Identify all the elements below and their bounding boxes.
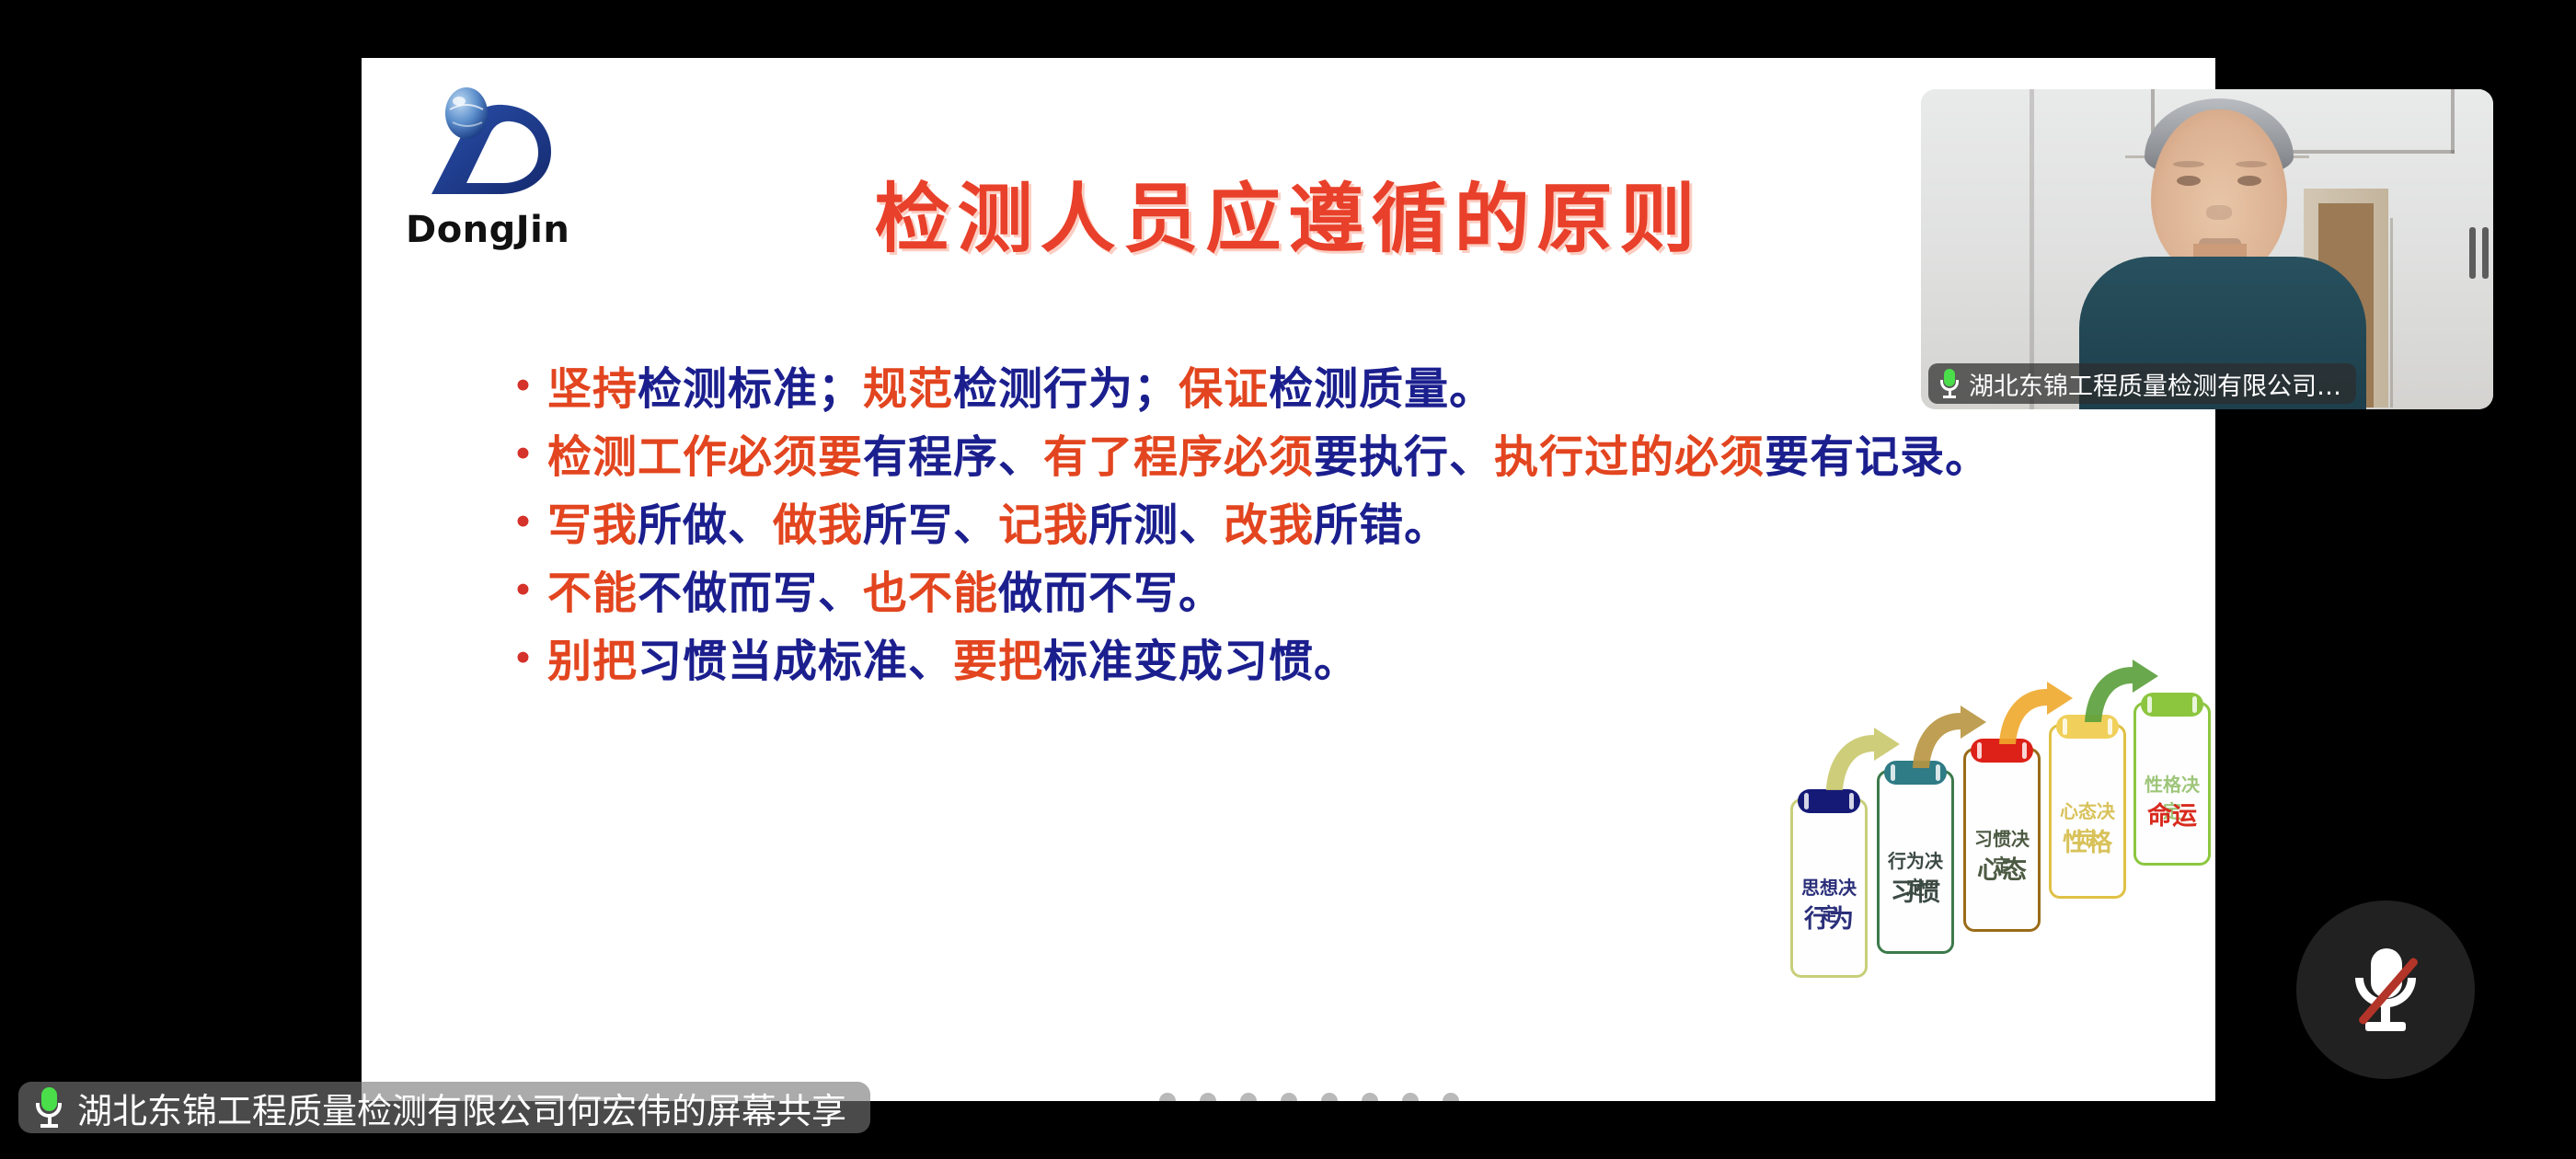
bullet-text: 坚持检测标准；规范检测行为；保证检测质量。: [547, 361, 1494, 417]
bullet-segment: 习惯当成标准、: [638, 636, 953, 687]
eye: [2177, 176, 2201, 186]
bullet-marker: •: [500, 361, 547, 411]
bullet-segment: 不做而写、: [638, 568, 863, 619]
bullet-segment: 所错。: [1314, 499, 1449, 551]
room-detail: [2390, 218, 2393, 407]
nose: [2206, 205, 2232, 220]
bullet-row: •别把习惯当成标准、要把标准变成习惯。: [500, 634, 2174, 689]
bullet-segment: 坚持: [547, 363, 638, 415]
flow-card: 思想决定行为: [1790, 798, 1868, 978]
bullet-segment: 检测工作必须要: [547, 431, 863, 483]
flow-card-result: 心态: [1966, 850, 2038, 886]
microphone-icon: [1939, 369, 1960, 398]
bullet-segment: 检测标准；: [638, 363, 863, 415]
bullet-row: •检测工作必须要有程序、有了程序必须要执行、执行过的必须要有记录。: [500, 430, 2174, 485]
bullet-segment: 改我: [1224, 499, 1314, 551]
microphone-muted-icon: [2350, 947, 2421, 1033]
bullet-segment: 写我: [547, 499, 638, 551]
page-dot[interactable]: [1119, 1093, 1135, 1101]
bullet-list: •坚持检测标准；规范检测行为；保证检测质量。•检测工作必须要有程序、有了程序必须…: [500, 361, 2174, 702]
room-detail: [2030, 89, 2034, 409]
bullet-text: 写我所做、做我所写、记我所测、改我所错。: [547, 498, 1449, 553]
bullet-text: 检测工作必须要有程序、有了程序必须要执行、执行过的必须要有记录。: [547, 430, 1990, 485]
bullet-segment: 做我: [773, 499, 863, 551]
flow-card-result: 命运: [2136, 796, 2208, 832]
bullet-segment: 做而不写。: [998, 568, 1224, 619]
bullet-segment: 要有记录。: [1765, 431, 1990, 483]
bullet-segment: 要把: [953, 636, 1043, 687]
bullet-marker: •: [500, 430, 547, 479]
participant-video-tile[interactable]: 湖北东锦工程质量检测有限公司…: [1921, 89, 2493, 409]
flow-diagram: 思想决定行为行为决定习惯习惯决定心态心态决定性格性格决定命运: [1790, 702, 2215, 978]
page-dot[interactable]: [1200, 1093, 1216, 1101]
participant-name-text: 湖北东锦工程质量检测有限公司…: [1969, 366, 2341, 402]
bullet-segment: 也不能: [863, 568, 998, 619]
bullet-segment: 保证: [1179, 363, 1269, 415]
flow-card: 心态决定性格: [2049, 724, 2126, 899]
bullet-segment: 检测行为；: [953, 363, 1179, 415]
bullet-segment: 有了程序必须: [1043, 431, 1314, 483]
page-dot[interactable]: [1281, 1093, 1297, 1101]
page-dot[interactable]: [1159, 1093, 1176, 1101]
bullet-row: •不能不做而写、也不能做而不写。: [500, 566, 2174, 621]
bullet-segment: 记我: [998, 499, 1088, 551]
bullet-segment: 别把: [547, 636, 638, 687]
bullet-segment: 所写、: [863, 499, 998, 551]
bullet-segment: 有程序、: [863, 431, 1043, 483]
meeting-screen: DongJin 检测人员应遵循的原则 •坚持检测标准；规范检测行为；保证检测质量…: [0, 0, 2576, 1159]
bullet-segment: 检测质量。: [1269, 363, 1494, 415]
microphone-icon: [35, 1087, 63, 1128]
flow-card: 习惯决定心态: [1963, 748, 2041, 932]
bullet-segment: 所测、: [1088, 499, 1224, 551]
bullet-segment: 标准变成习惯。: [1043, 636, 1359, 687]
flow-card-result: 习惯: [1880, 872, 1951, 908]
eyebrow: [2236, 161, 2267, 167]
bullet-text: 不能不做而写、也不能做而不写。: [547, 566, 1224, 621]
bullet-marker: •: [500, 634, 547, 683]
screen-share-status-bar: 湖北东锦工程质量检测有限公司何宏伟的屏幕共享: [18, 1082, 870, 1133]
eyebrow: [2173, 161, 2204, 167]
bullet-marker: •: [500, 498, 547, 547]
eye: [2237, 176, 2261, 186]
bullet-segment: 不能: [547, 568, 638, 619]
mute-toggle-button[interactable]: [2296, 901, 2475, 1079]
flow-card-result: 性格: [2052, 822, 2123, 858]
bullet-segment: 执行过的必须: [1494, 431, 1765, 483]
bullet-segment: 所做、: [638, 499, 773, 551]
page-dot[interactable]: [1402, 1093, 1419, 1101]
participant-name-label: 湖北东锦工程质量检测有限公司…: [1928, 363, 2356, 404]
flow-card: 性格决定命运: [2133, 702, 2211, 866]
flow-card-result: 行为: [1793, 899, 1865, 935]
bullet-marker: •: [500, 566, 547, 615]
room-detail: [2451, 89, 2455, 154]
page-dot[interactable]: [1443, 1093, 1459, 1101]
bullet-segment: 要执行、: [1314, 431, 1494, 483]
bullet-row: •写我所做、做我所写、记我所测、改我所错。: [500, 498, 2174, 553]
page-dot[interactable]: [1240, 1093, 1257, 1101]
flow-card: 行为决定习惯: [1877, 770, 1954, 954]
page-dot[interactable]: [1362, 1093, 1378, 1101]
room-detail: [2469, 227, 2476, 279]
flow-card-cap: [2141, 693, 2202, 717]
bullet-text: 别把习惯当成标准、要把标准变成习惯。: [547, 634, 1359, 689]
page-dot[interactable]: [1321, 1093, 1338, 1101]
room-detail: [2482, 227, 2489, 279]
screen-share-label: 湖北东锦工程质量检测有限公司何宏伟的屏幕共享: [77, 1083, 846, 1133]
bullet-segment: 规范: [863, 363, 953, 415]
